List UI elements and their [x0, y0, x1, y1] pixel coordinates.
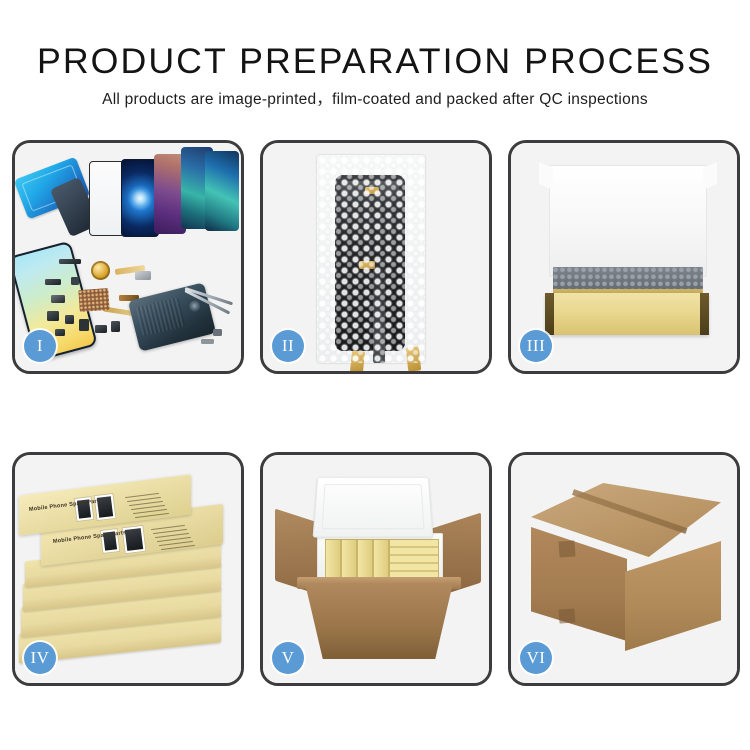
product-preparation-infographic: PRODUCT PREPARATION PROCESS All products…	[0, 0, 750, 750]
vibrator-coil-shape	[91, 261, 110, 280]
chip-shape	[213, 329, 222, 336]
chip-shape	[45, 279, 61, 285]
chip-shape	[51, 295, 65, 303]
retail-box-shape	[373, 539, 389, 581]
white-foam-lid-shape	[549, 165, 707, 277]
process-step-grid: I II	[12, 140, 746, 685]
chip-shape	[55, 329, 65, 336]
chip-shape	[201, 339, 214, 344]
step-panel-4: Mobile Phone Spare Parts Mobile Phone Sp…	[12, 452, 244, 686]
carton-side-shape	[625, 541, 721, 651]
chip-shape	[135, 271, 151, 280]
logic-board-shape	[78, 288, 109, 312]
bubble-wrap-bag-shape	[317, 155, 425, 363]
step-badge-2: II	[272, 330, 304, 362]
tempered-glass-shape	[89, 161, 125, 236]
chip-shape	[47, 311, 59, 321]
retail-box-shape	[357, 539, 373, 581]
step-badge-5: V	[272, 642, 304, 674]
step-badge-1: I	[24, 330, 56, 362]
packing-tape-shape	[558, 540, 575, 557]
chip-shape	[95, 325, 107, 333]
page-title: PRODUCT PREPARATION PROCESS	[0, 0, 750, 82]
chip-shape	[71, 277, 79, 285]
chip-shape	[65, 315, 74, 324]
tweezers-icon	[185, 275, 237, 321]
carton-body-shape	[305, 583, 453, 659]
step-panel-2: II	[260, 140, 492, 374]
page-subtitle: All products are image-printed，film-coat…	[0, 82, 750, 109]
retail-box-shape	[341, 539, 357, 581]
chip-shape	[111, 321, 120, 332]
chip-shape	[79, 319, 89, 331]
box-window	[93, 493, 116, 521]
retail-box-group-shape	[389, 539, 439, 581]
step-panel-3: III	[508, 140, 740, 374]
packing-tape-shape	[559, 608, 576, 623]
teal-lcd-shape-2	[205, 151, 239, 231]
chip-shape	[59, 259, 81, 264]
bubble-texture-overlay	[317, 155, 425, 363]
header: PRODUCT PREPARATION PROCESS All products…	[0, 0, 750, 109]
step-badge-4: IV	[24, 642, 56, 674]
step-badge-6: VI	[520, 642, 552, 674]
step-panel-1: I	[12, 140, 244, 374]
kraft-box-body-shape	[545, 293, 709, 335]
step-badge-3: III	[520, 330, 552, 362]
step-panel-5: V	[260, 452, 492, 686]
box-stack: Mobile Phone Spare Parts Mobile Phone Sp…	[17, 473, 243, 669]
foam-lid-shape	[313, 477, 434, 538]
retail-box-shape	[325, 539, 341, 581]
step-panel-6: VI	[508, 452, 740, 686]
